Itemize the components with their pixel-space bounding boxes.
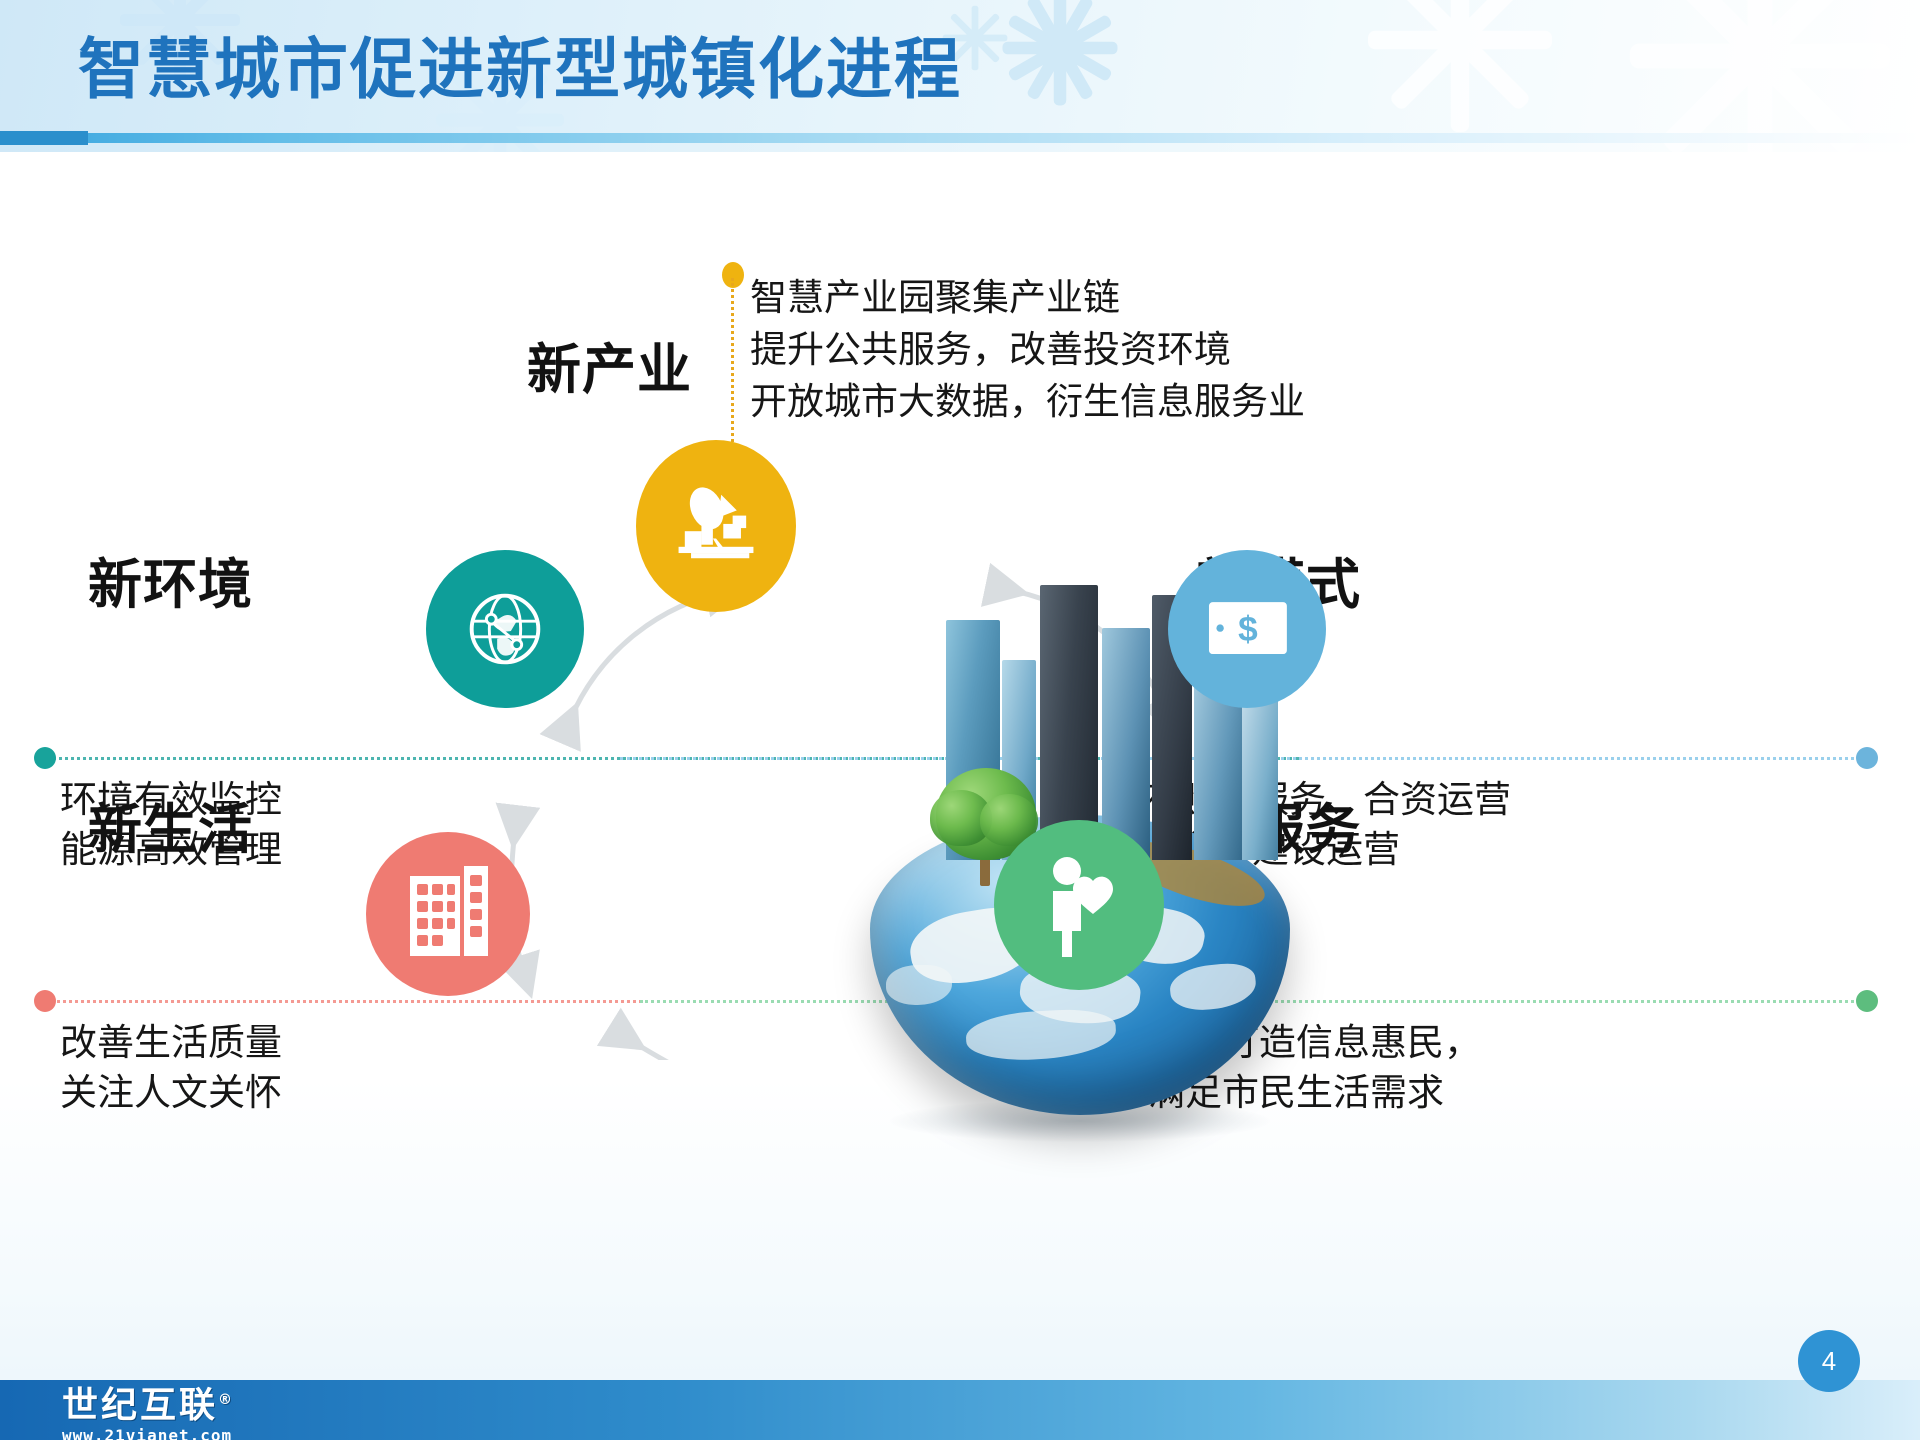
industry-label: 新产业: [527, 325, 692, 404]
brand-url: www.21vianet.com: [62, 1426, 422, 1445]
service-marker-dot: [1856, 990, 1878, 1012]
brand-logo: 世纪互联® www.21vianet.com: [62, 1382, 422, 1438]
person-heart-icon: [1033, 851, 1125, 959]
registered-mark: ®: [218, 1392, 235, 1408]
environment-label: 新环境: [88, 540, 253, 619]
mode-marker-dot: [1856, 747, 1878, 769]
satellite-dish-icon: [664, 474, 768, 578]
life-label: 新生活: [88, 785, 253, 864]
header-divider-accent: [0, 131, 88, 145]
life-line-2: 关注人文关怀: [60, 1068, 282, 1118]
header-divider: [0, 133, 1920, 143]
life-line-1: 改善生活质量: [60, 1018, 282, 1068]
page-title: 智慧城市促进新型城镇化进程: [78, 16, 962, 112]
money-tag-icon: $: [1196, 585, 1298, 673]
brand-name-cn: 世纪互联®: [62, 1382, 422, 1424]
svg-text:$: $: [1238, 610, 1258, 649]
industry-bubble[interactable]: [636, 440, 796, 612]
environment-marker-dot: [34, 747, 56, 769]
life-marker-dot: [34, 990, 56, 1012]
smart-city-diagram: $: [330, 400, 1410, 1060]
life-body: 改善生活质量 关注人文关怀: [60, 1018, 282, 1118]
globe-network-icon: [456, 580, 554, 678]
service-bubble[interactable]: [994, 820, 1164, 990]
mode-bubble[interactable]: $: [1168, 550, 1326, 708]
industry-line-1: 智慧产业园聚集产业链: [750, 272, 1305, 324]
industry-line-2: 提升公共服务，改善投资环境: [750, 324, 1305, 376]
environment-bubble[interactable]: [426, 550, 584, 708]
page-number-badge: 4: [1798, 1330, 1860, 1392]
building-icon: [400, 862, 496, 966]
life-bubble[interactable]: [366, 832, 530, 996]
slide-header: 智慧城市促进新型城镇化进程: [0, 0, 1920, 152]
